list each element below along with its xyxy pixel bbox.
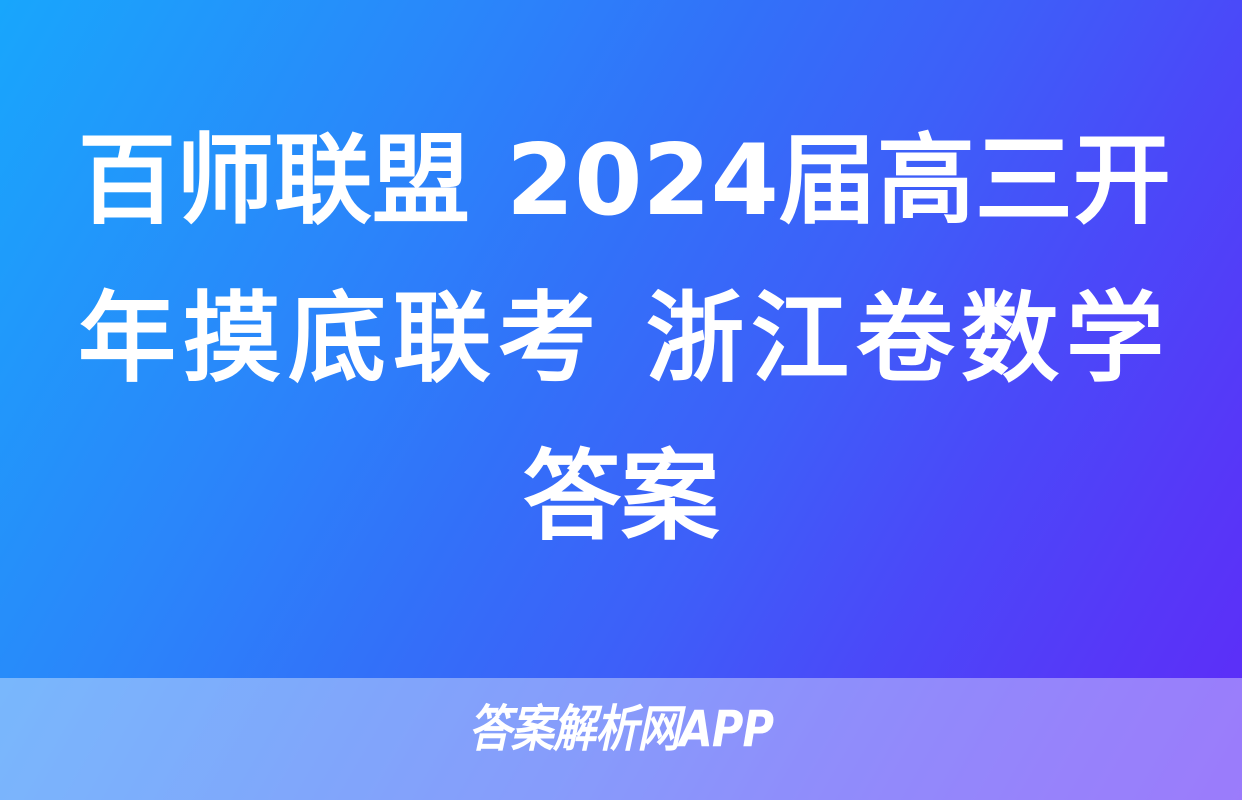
title-line-1: 百师联盟 2024届高三开 <box>78 102 1164 260</box>
title-line-3: 答案 <box>78 418 1164 576</box>
poster-canvas: 百师联盟 2024届高三开 年摸底联考 浙江卷数学 答案 答案解析网APP <box>0 0 1242 800</box>
headline-block: 百师联盟 2024届高三开 年摸底联考 浙江卷数学 答案 <box>0 0 1242 678</box>
title-line-2: 年摸底联考 浙江卷数学 <box>78 260 1164 418</box>
watermark-app-label: 答案解析网APP <box>87 700 1155 758</box>
